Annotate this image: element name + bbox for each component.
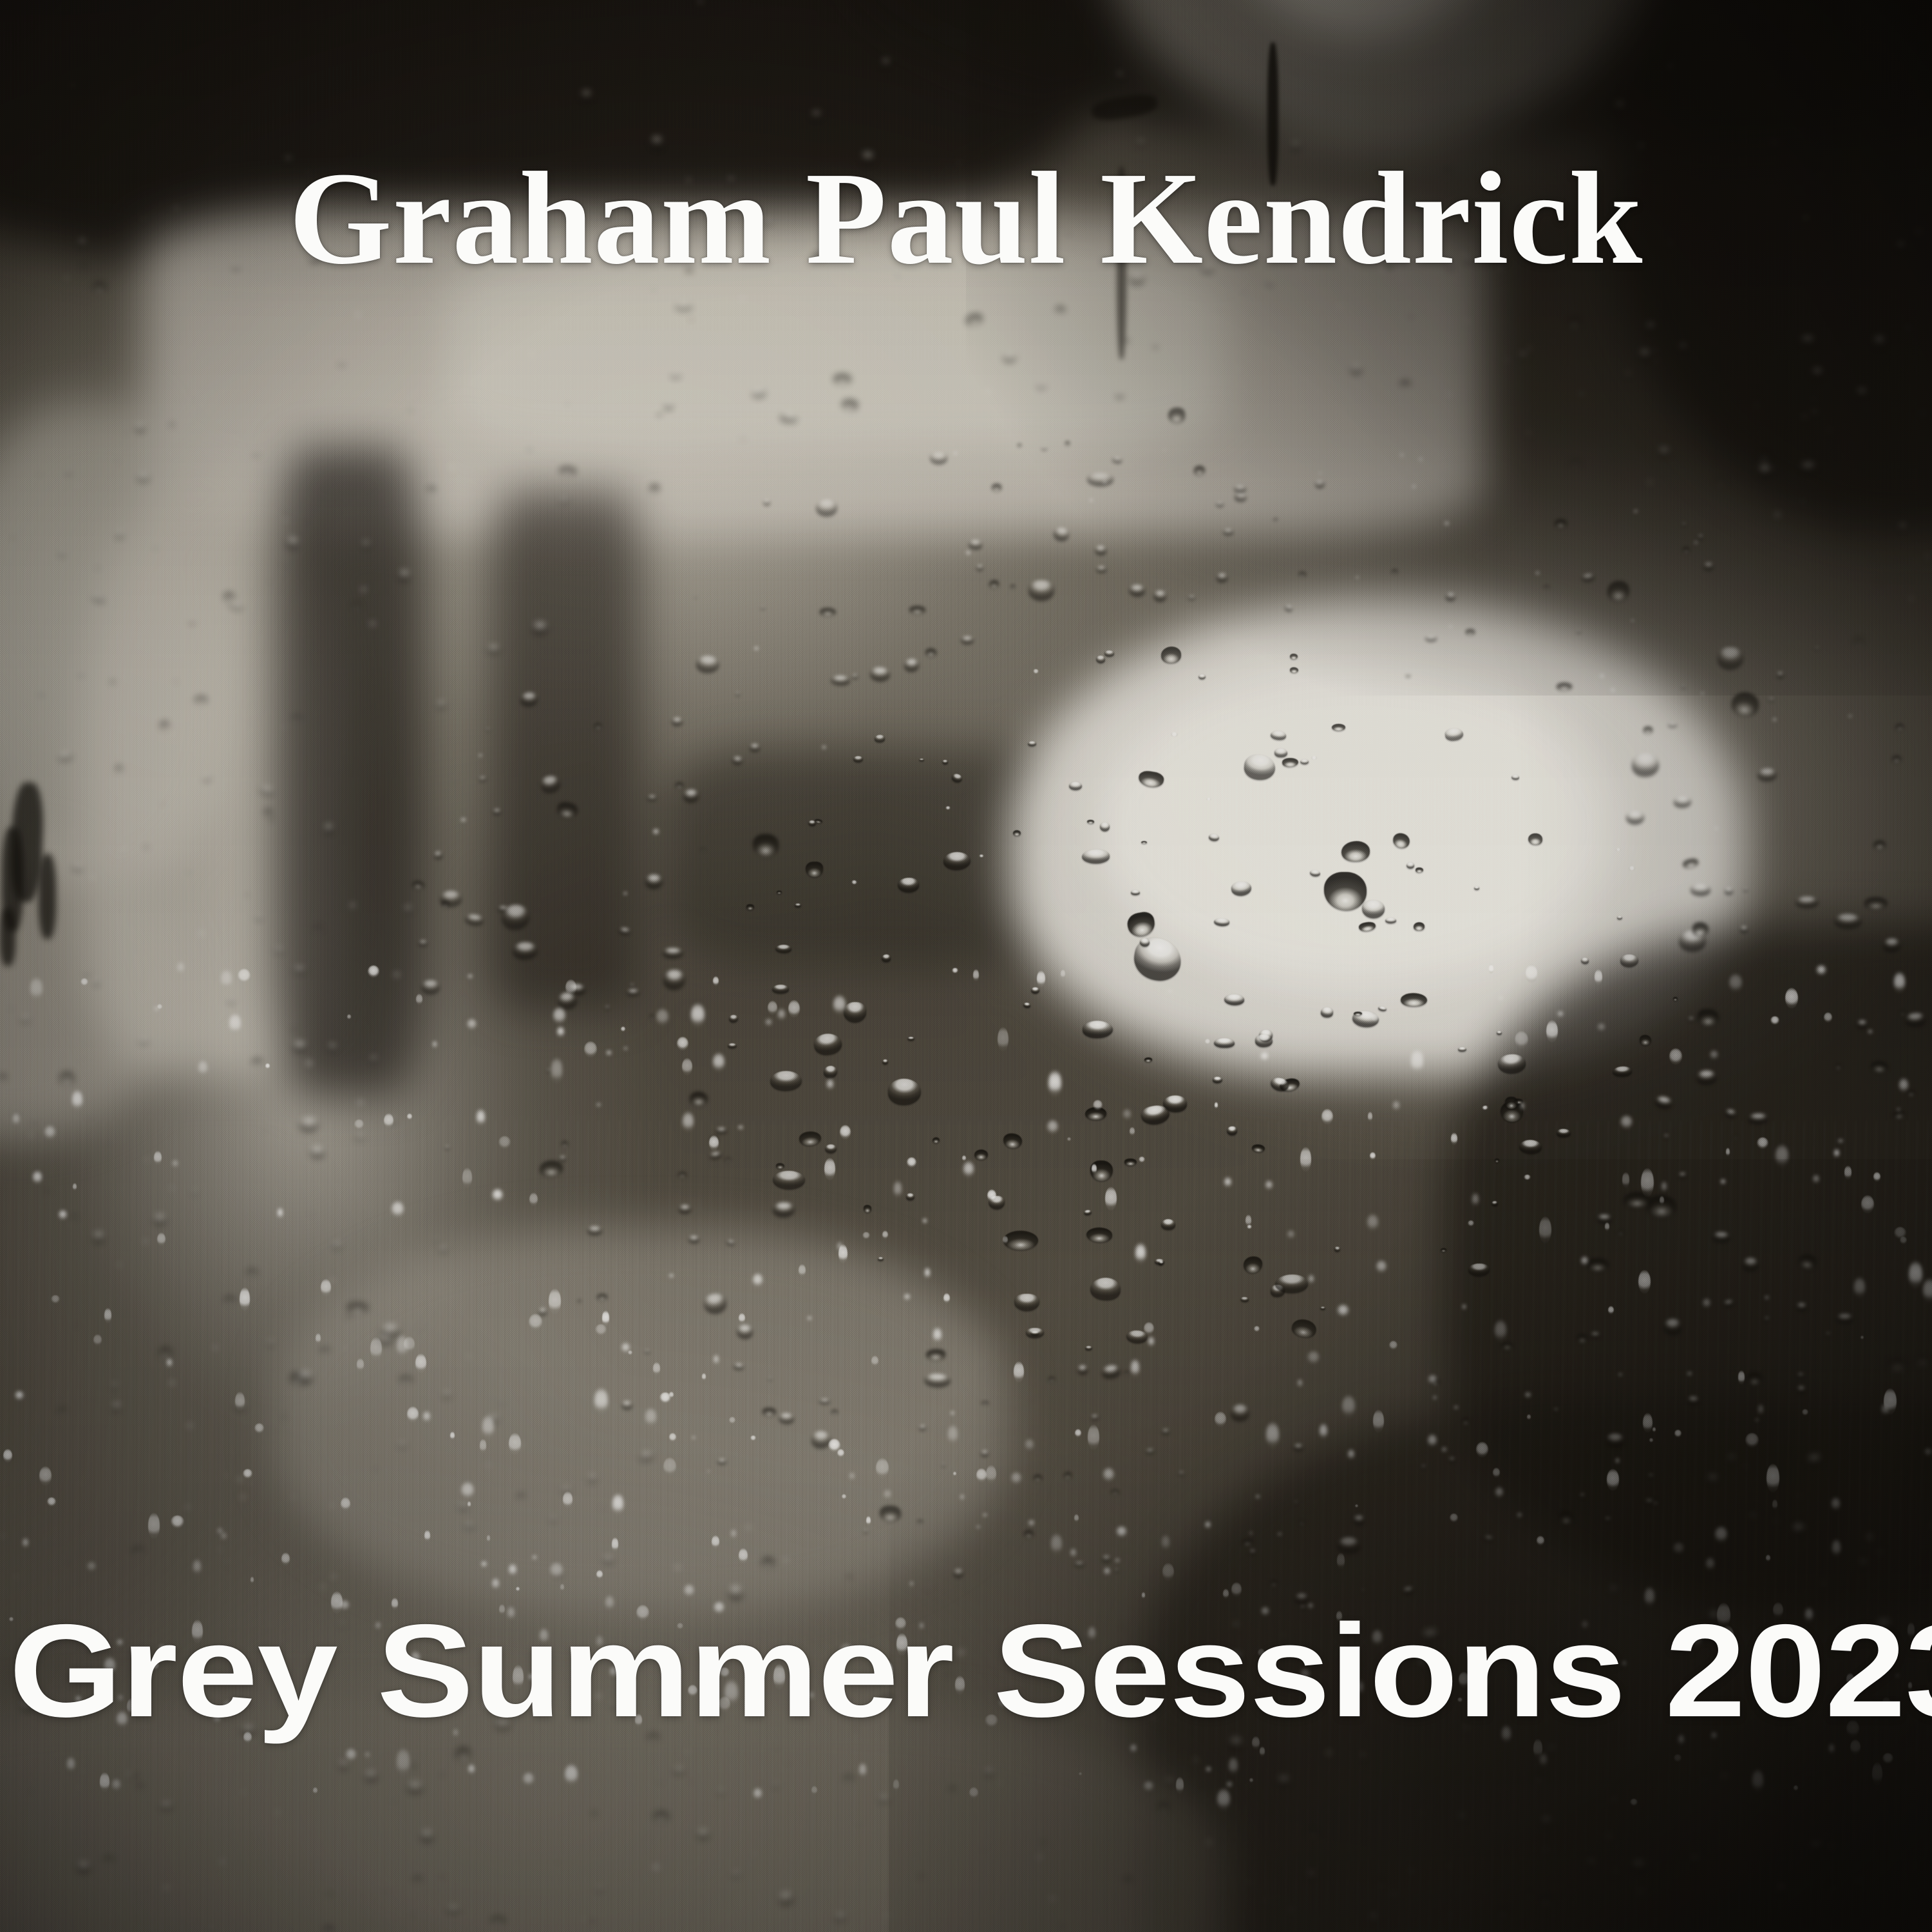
water-droplet: [979, 855, 984, 857]
water-droplet: [1808, 1841, 1824, 1851]
water-droplet: [602, 1557, 614, 1564]
water-droplet: [1240, 1297, 1249, 1303]
rain-speck: [859, 1763, 867, 1778]
water-droplet: [1615, 101, 1625, 111]
water-droplet: [729, 1015, 739, 1023]
water-droplet: [1678, 1173, 1687, 1178]
rain-speck: [433, 1041, 437, 1048]
rain-speck: [1622, 1172, 1630, 1188]
rain-speck: [1607, 1469, 1620, 1491]
water-droplet: [1587, 1258, 1609, 1271]
rain-speck: [1463, 1304, 1466, 1311]
water-droplet: [1773, 467, 1776, 469]
water-droplet: [1617, 916, 1622, 920]
water-droplet: [31, 1119, 37, 1122]
rain-speck: [1813, 1175, 1819, 1184]
water-droplet: [1559, 1511, 1573, 1524]
water-droplet: [1848, 715, 1851, 717]
water-droplet: [1030, 391, 1034, 393]
rain-speck: [840, 1125, 851, 1139]
water-droplet: [1324, 872, 1367, 911]
rain-speck: [423, 1411, 430, 1423]
rain-speck: [1307, 1351, 1319, 1364]
rain-speck: [778, 1009, 785, 1021]
rain-speck: [3, 1449, 12, 1463]
water-droplet: [779, 1413, 795, 1424]
rain-speck: [1710, 1050, 1718, 1059]
water-droplet: [57, 1407, 66, 1414]
water-droplet: [1835, 1064, 1842, 1068]
water-droplet: [737, 1325, 753, 1340]
rain-speck: [1162, 1535, 1170, 1551]
water-droplet: [1797, 1253, 1818, 1271]
rain-speck: [677, 1037, 688, 1051]
water-droplet: [144, 846, 148, 848]
water-droplet: [306, 522, 308, 523]
water-droplet: [1206, 25, 1208, 27]
rain-speck: [80, 978, 88, 986]
water-droplet: [292, 1496, 295, 1498]
water-droplet: [1668, 723, 1677, 728]
water-droplet: [411, 1913, 414, 1916]
water-droplet: [438, 1247, 448, 1253]
rain-speck: [1832, 1497, 1841, 1511]
water-droplet: [878, 1257, 884, 1261]
rain-speck: [1674, 1754, 1681, 1762]
rain-speck: [969, 1787, 978, 1799]
water-droplet: [701, 848, 705, 851]
water-droplet: [327, 1043, 337, 1051]
water-droplet: [1454, 1406, 1458, 1410]
rain-speck: [1715, 1526, 1727, 1543]
rain-speck: [365, 1752, 370, 1758]
water-droplet: [1492, 1200, 1499, 1206]
rain-speck: [1643, 1413, 1653, 1433]
water-droplet: [165, 1477, 169, 1479]
water-droplet: [1060, 1925, 1064, 1927]
water-droplet: [347, 1302, 368, 1314]
water-droplet: [1441, 1447, 1447, 1452]
water-droplet: [650, 484, 659, 493]
rain-speck: [1766, 1464, 1779, 1493]
rain-speck: [596, 1570, 603, 1579]
water-droplet: [333, 1242, 341, 1250]
water-droplet: [1519, 1140, 1542, 1154]
rain-speck: [1630, 1799, 1638, 1806]
rain-speck: [1260, 1052, 1269, 1061]
water-droplet: [349, 903, 355, 907]
water-droplet: [1158, 1803, 1170, 1812]
water-droplet: [161, 802, 164, 804]
water-droplet: [1273, 518, 1278, 521]
water-droplet: [413, 1876, 422, 1882]
water-droplet: [1100, 822, 1110, 831]
water-droplet: [1049, 1897, 1056, 1901]
water-droplet: [702, 1293, 728, 1316]
water-droplet: [427, 486, 436, 491]
rain-speck: [1703, 1298, 1710, 1308]
water-droplet: [1497, 1031, 1502, 1035]
water-droplet: [224, 1296, 234, 1304]
water-droplet: [627, 989, 639, 996]
rain-speck: [407, 1113, 412, 1121]
water-droplet: [1217, 573, 1227, 582]
rain-speck: [157, 1233, 166, 1246]
water-droplet: [1227, 1126, 1237, 1135]
rain-speck: [1130, 1744, 1137, 1754]
water-droplet: [732, 757, 743, 766]
rain-speck: [51, 1295, 59, 1304]
water-droplet: [412, 880, 425, 889]
artist-name: Graham Paul Kendrick: [0, 152, 1932, 285]
water-droplet: [421, 980, 440, 994]
rain-speck: [1923, 1278, 1932, 1302]
water-droplet: [1577, 1334, 1587, 1343]
water-droplet: [906, 1193, 914, 1200]
water-droplet: [919, 759, 924, 762]
water-droplet: [1141, 841, 1147, 844]
rain-speck: [1051, 1533, 1062, 1555]
rain-speck: [1287, 1230, 1294, 1239]
water-droplet: [1533, 1774, 1545, 1782]
water-droplet: [388, 445, 391, 446]
water-droplet: [354, 1134, 365, 1140]
water-droplet: [1721, 1774, 1728, 1778]
water-droplet: [1698, 1009, 1718, 1027]
water-droplet: [1293, 69, 1297, 72]
water-droplet: [285, 1858, 287, 1859]
rain-speck: [1861, 1195, 1874, 1213]
water-droplet: [1270, 1580, 1278, 1586]
water-droplet: [274, 948, 284, 953]
water-droplet: [647, 795, 657, 800]
water-droplet: [1718, 647, 1744, 670]
water-droplet: [25, 569, 28, 570]
rain-speck: [392, 1201, 404, 1218]
rain-speck: [44, 1126, 55, 1139]
water-droplet: [220, 1860, 225, 1864]
water-droplet: [88, 1114, 92, 1117]
water-droplet: [420, 1830, 434, 1842]
water-droplet: [1524, 1175, 1531, 1180]
water-droplet: [1860, 1560, 1868, 1567]
water-droplet: [137, 1784, 144, 1788]
water-droplet: [159, 1347, 172, 1358]
water-droplet: [245, 894, 247, 896]
water-droplet: [247, 1269, 258, 1276]
water-droplet: [1744, 1466, 1747, 1468]
water-droplet: [310, 1146, 325, 1159]
water-droplet: [1669, 64, 1672, 68]
rain-speck: [1557, 1011, 1564, 1017]
water-droplet: [1003, 1133, 1022, 1149]
water-droplet: [71, 1215, 77, 1220]
water-droplet: [834, 1913, 846, 1920]
water-droplet: [730, 1871, 741, 1877]
rain-speck: [549, 1289, 560, 1314]
water-droplet: [1353, 1515, 1365, 1525]
water-droplet: [478, 776, 487, 781]
rain-speck: [1320, 1423, 1328, 1440]
water-droplet: [1, 1535, 5, 1537]
rain-speck: [1215, 1412, 1226, 1427]
water-droplet: [105, 1142, 108, 1144]
rain-speck: [23, 1538, 28, 1548]
water-droplet: [139, 1293, 142, 1295]
water-droplet: [252, 1058, 262, 1065]
water-droplet: [1024, 1530, 1033, 1538]
water-droplet: [1868, 1030, 1873, 1034]
water-droplet: [1131, 890, 1140, 896]
water-droplet: [75, 1324, 78, 1327]
water-droplet: [686, 1750, 689, 1754]
rain-speck: [1669, 1048, 1681, 1065]
water-droplet: [1501, 1343, 1513, 1349]
rain-speck: [682, 1058, 692, 1075]
water-droplet: [735, 692, 740, 696]
water-droplet: [786, 1760, 790, 1763]
rain-speck: [827, 1079, 834, 1090]
rain-speck: [1367, 1214, 1379, 1231]
rain-speck: [963, 1161, 974, 1178]
rain-speck: [998, 1027, 1009, 1052]
rain-speck: [1092, 1164, 1097, 1174]
water-droplet: [12, 537, 14, 539]
water-droplet: [357, 1100, 363, 1104]
rain-speck: [1074, 1514, 1079, 1522]
water-droplet: [1252, 1144, 1265, 1153]
water-droplet: [1612, 1798, 1615, 1801]
water-droplet: [24, 904, 29, 907]
water-droplet: [1678, 344, 1688, 350]
water-droplet: [1687, 1371, 1692, 1375]
water-droplet: [450, 465, 456, 469]
rain-speck: [1337, 1305, 1349, 1316]
rain-speck: [702, 1373, 706, 1380]
water-droplet: [953, 451, 958, 456]
water-droplet: [556, 1862, 559, 1863]
water-droplet: [1796, 1303, 1806, 1311]
rain-speck: [198, 1060, 207, 1076]
water-droplet: [1124, 1159, 1137, 1166]
rain-speck: [612, 1537, 618, 1552]
water-droplet: [459, 1503, 468, 1511]
water-droplet: [1645, 323, 1655, 331]
rain-speck: [1468, 1220, 1474, 1226]
water-droplet: [1065, 441, 1070, 446]
water-droplet: [1685, 1855, 1687, 1857]
water-droplet: [1104, 650, 1114, 656]
rain-speck: [962, 1155, 967, 1161]
rain-speck: [1130, 1127, 1135, 1136]
water-droplet: [465, 1843, 468, 1845]
rain-speck: [1168, 989, 1171, 995]
rain-speck: [645, 1408, 657, 1426]
water-droplet: [1828, 429, 1831, 431]
water-droplet: [1406, 674, 1411, 677]
rain-speck: [461, 1482, 475, 1499]
rain-speck: [1067, 1137, 1070, 1141]
water-droplet: [1897, 1108, 1900, 1112]
water-droplet: [965, 551, 971, 555]
rain-speck: [1088, 1425, 1099, 1450]
water-droplet: [1028, 741, 1036, 746]
water-droplet: [1446, 592, 1456, 601]
water-droplet: [761, 1782, 762, 1783]
water-droplet: [1074, 1562, 1084, 1567]
water-droplet: [1700, 327, 1704, 330]
water-droplet: [1626, 811, 1644, 824]
water-droplet: [1757, 464, 1772, 478]
water-droplet: [761, 1557, 773, 1568]
water-droplet: [1929, 1525, 1932, 1527]
rain-speck: [1103, 1468, 1114, 1482]
water-droplet: [276, 1811, 279, 1814]
rain-speck: [1924, 1448, 1932, 1455]
water-droplet: [663, 948, 683, 958]
water-droplet: [1448, 1864, 1451, 1867]
water-droplet: [775, 945, 791, 953]
water-droplet: [1539, 1895, 1552, 1905]
water-droplet: [1114, 1558, 1121, 1563]
rain-speck: [73, 1183, 77, 1191]
water-droplet: [1812, 410, 1817, 415]
rain-speck: [13, 1113, 19, 1126]
water-droplet: [974, 1150, 988, 1160]
water-droplet: [111, 1403, 122, 1412]
water-droplet: [164, 1886, 169, 1889]
rain-speck: [1495, 1487, 1503, 1498]
album-cover: Graham Paul Kendrick Grey Summer Session…: [0, 0, 1932, 1932]
rain-speck: [321, 1279, 331, 1296]
water-droplet: [1179, 1472, 1184, 1475]
water-droplet: [1681, 523, 1687, 526]
water-droplet: [1768, 698, 1774, 701]
water-droplet: [1797, 1386, 1806, 1394]
water-droplet: [529, 352, 535, 358]
water-droplet: [285, 536, 301, 551]
rain-speck: [59, 1210, 66, 1220]
water-droplet: [1506, 359, 1509, 361]
water-droplet: [1767, 82, 1776, 87]
rain-speck: [1131, 1359, 1139, 1378]
water-droplet: [1714, 827, 1718, 830]
water-droplet: [477, 753, 482, 757]
water-droplet: [679, 1205, 691, 1213]
rain-speck: [953, 1472, 956, 1476]
water-droplet: [1290, 654, 1298, 659]
rain-speck: [849, 1472, 855, 1481]
water-droplet: [1694, 541, 1698, 544]
water-droplet: [777, 891, 781, 894]
rain-speck: [729, 1417, 735, 1425]
rain-speck: [1176, 1777, 1184, 1794]
rain-speck: [987, 1189, 996, 1202]
water-droplet: [645, 875, 663, 889]
rain-speck: [750, 1435, 756, 1441]
water-droplet: [451, 778, 455, 781]
water-droplet: [1747, 1372, 1763, 1385]
rain-speck: [1720, 1179, 1725, 1184]
rain-speck: [824, 1158, 835, 1180]
rain-speck: [148, 1513, 160, 1539]
water-droplet: [1716, 479, 1726, 485]
water-droplet: [171, 733, 175, 735]
water-droplet: [260, 637, 263, 638]
water-droplet: [1370, 1913, 1378, 1918]
water-droplet: [1654, 1591, 1658, 1595]
water-droplet: [989, 580, 999, 588]
rain-speck: [1373, 1410, 1385, 1433]
rain-speck: [1105, 1187, 1117, 1211]
water-droplet: [319, 1347, 330, 1354]
water-droplet: [1524, 1392, 1531, 1397]
water-droplet: [1159, 1261, 1164, 1266]
rain-speck: [1254, 1326, 1260, 1332]
water-droplet: [773, 1202, 795, 1217]
rain-speck: [876, 1458, 889, 1479]
water-droplet: [1244, 1256, 1262, 1273]
water-droplet: [464, 1523, 475, 1528]
water-droplet: [44, 1190, 49, 1194]
water-droplet: [1631, 620, 1634, 621]
rain-speck: [663, 1457, 676, 1476]
water-droplet: [1873, 840, 1886, 850]
rain-speck: [1321, 1109, 1333, 1125]
water-droplet: [812, 1032, 842, 1056]
water-droplet: [1325, 1750, 1332, 1755]
rain-speck: [346, 1748, 356, 1761]
water-droplet: [1213, 1077, 1222, 1083]
water-droplet: [532, 622, 548, 634]
water-droplet: [1797, 1495, 1801, 1498]
water-droplet: [1604, 1517, 1611, 1521]
water-droplet: [397, 1443, 408, 1448]
water-droplet: [1683, 547, 1690, 553]
water-droplet: [434, 1238, 440, 1242]
rain-speck: [684, 1584, 694, 1597]
water-droplet: [591, 1920, 595, 1924]
water-droplet: [0, 1074, 7, 1081]
rain-speck: [397, 1334, 408, 1358]
water-droplet: [857, 1821, 862, 1824]
water-droplet: [1341, 841, 1369, 862]
water-droplet: [1153, 590, 1166, 601]
water-droplet: [1420, 1813, 1424, 1816]
water-droplet: [170, 422, 175, 426]
water-droplet: [949, 1786, 956, 1792]
rain-speck: [93, 1334, 102, 1345]
water-droplet: [998, 1782, 1001, 1784]
water-droplet: [1290, 667, 1298, 673]
water-droplet: [1104, 381, 1108, 384]
rain-speck: [1476, 1442, 1488, 1457]
water-droplet: [139, 79, 142, 81]
water-droplet: [1055, 305, 1065, 314]
water-droplet: [9, 1006, 12, 1009]
water-droplet: [696, 1829, 710, 1840]
water-droplet: [1483, 1535, 1493, 1541]
water-droplet: [1638, 1889, 1643, 1893]
rain-speck: [1802, 1409, 1808, 1416]
water-droplet: [1693, 1862, 1696, 1864]
water-droplet: [1255, 1495, 1260, 1499]
water-droplet: [502, 904, 529, 930]
rain-speck: [973, 969, 979, 981]
water-droplet: [1873, 336, 1886, 348]
water-droplet: [1069, 782, 1081, 790]
water-droplet: [1692, 922, 1709, 936]
